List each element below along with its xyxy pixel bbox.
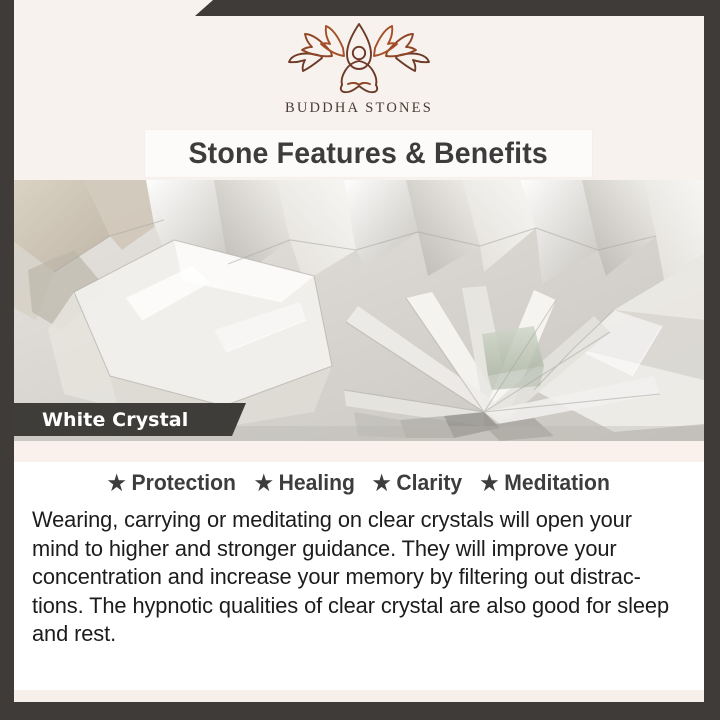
benefit-label: Clarity (396, 470, 462, 496)
crystal-photo (14, 180, 704, 441)
star-icon: ★ (481, 473, 499, 494)
star-icon: ★ (108, 473, 126, 494)
benefit-item-clarity: ★ Clarity (359, 470, 462, 496)
poster-card: BUDDHA STONES Stone Features & Benefits (14, 0, 704, 702)
page-title: Stone Features & Benefits (189, 137, 549, 171)
benefit-label: Protection (131, 470, 235, 496)
brand-name: BUDDHA STONES (285, 100, 433, 117)
benefits-list: ★ Protection ★ Healing ★ Clarity ★ Medit… (14, 462, 704, 496)
bottom-cream-sliver (14, 690, 704, 702)
benefit-item-protection: ★ Protection (108, 470, 236, 496)
benefit-label: Healing (278, 470, 354, 496)
lotus-meditation-figure-icon (279, 22, 439, 94)
benefit-item-healing: ★ Healing (241, 470, 355, 496)
poster-root: BUDDHA STONES Stone Features & Benefits (0, 0, 720, 720)
top-right-dark-wedge (195, 0, 720, 16)
benefit-item-meditation: ★ Meditation (467, 470, 610, 496)
content-section: ★ Protection ★ Healing ★ Clarity ★ Medit… (14, 462, 704, 702)
star-icon: ★ (254, 473, 272, 494)
benefit-label: Meditation (504, 470, 610, 496)
brand-logo: BUDDHA STONES (14, 22, 704, 117)
photo-caption-label: White Crystal (42, 409, 188, 431)
cream-divider-band (14, 441, 704, 462)
photo-caption-bar: White Crystal (14, 403, 246, 436)
description-paragraph: Wearing, carrying or meditating on clear… (32, 506, 684, 649)
star-icon: ★ (372, 473, 390, 494)
title-banner: Stone Features & Benefits (145, 130, 592, 177)
